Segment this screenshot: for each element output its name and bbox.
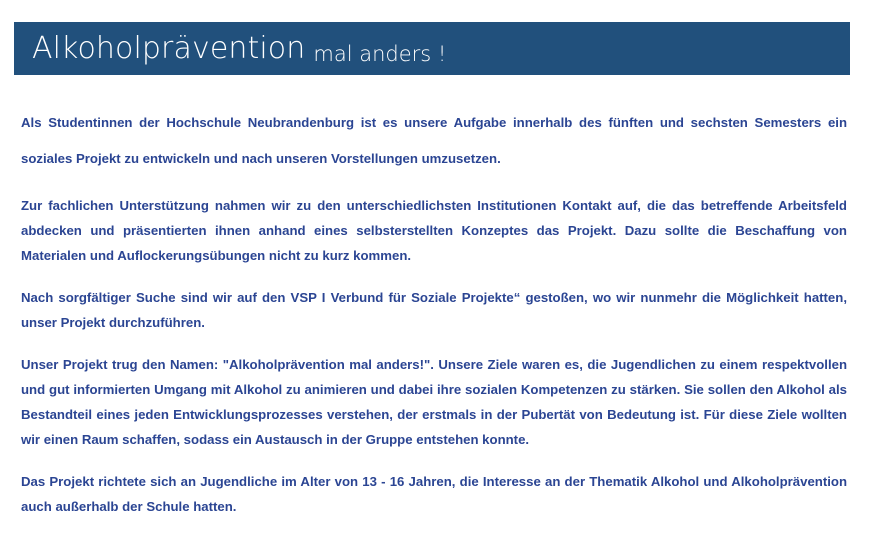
document-body: Als Studentinnen der Hochschule Neubrand… (21, 105, 847, 519)
document-page: Alkoholprävention mal anders ! Als Stude… (0, 0, 870, 555)
page-title-banner: Alkoholprävention mal anders ! (14, 22, 850, 75)
paragraph-partner: Nach sorgfältiger Suche sind wir auf den… (21, 285, 847, 335)
paragraph-support: Zur fachlichen Unterstützung nahmen wir … (21, 193, 847, 268)
paragraph-target-group: Das Projekt richtete sich an Jugendliche… (21, 469, 847, 519)
paragraph-goals: Unser Projekt trug den Namen: "Alkoholpr… (21, 352, 847, 452)
page-subtitle: mal anders ! (313, 44, 446, 75)
paragraph-intro: Als Studentinnen der Hochschule Neubrand… (21, 105, 847, 177)
page-title: Alkoholprävention (32, 34, 305, 64)
